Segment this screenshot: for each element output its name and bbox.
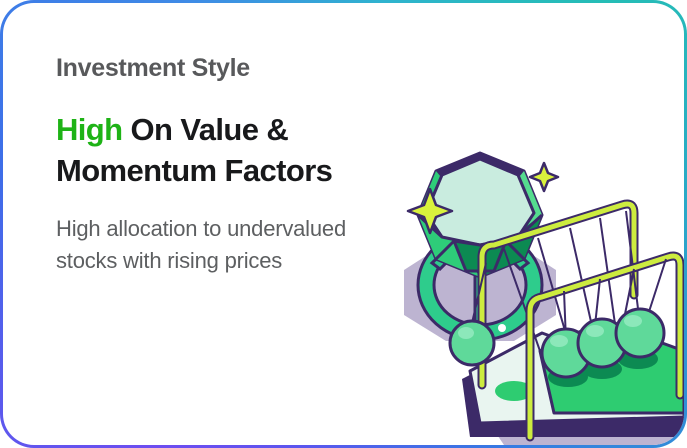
cradle-ball-highlight bbox=[458, 327, 474, 339]
cradle-ball-resting bbox=[616, 309, 664, 357]
card-eyebrow-label: Investment Style bbox=[56, 53, 406, 83]
cradle-ball-highlight bbox=[550, 335, 568, 347]
cradle-ball-highlight bbox=[624, 315, 642, 327]
headline-accent-word: High bbox=[56, 112, 122, 147]
card-headline: High On Value & Momentum Factors bbox=[56, 109, 396, 191]
card-inner-surface: Investment Style High On Value & Momentu… bbox=[3, 3, 684, 445]
sparkle-small-icon bbox=[530, 163, 558, 191]
cradle-ball-highlight bbox=[586, 325, 604, 337]
card-text-block: Investment Style High On Value & Momentu… bbox=[56, 53, 406, 276]
card-description: High allocation to undervalued stocks wi… bbox=[56, 213, 386, 275]
investment-style-card: Investment Style High On Value & Momentu… bbox=[0, 0, 687, 448]
ring-highlight-dot bbox=[498, 324, 506, 332]
cradle-ball-swinging bbox=[450, 321, 494, 365]
